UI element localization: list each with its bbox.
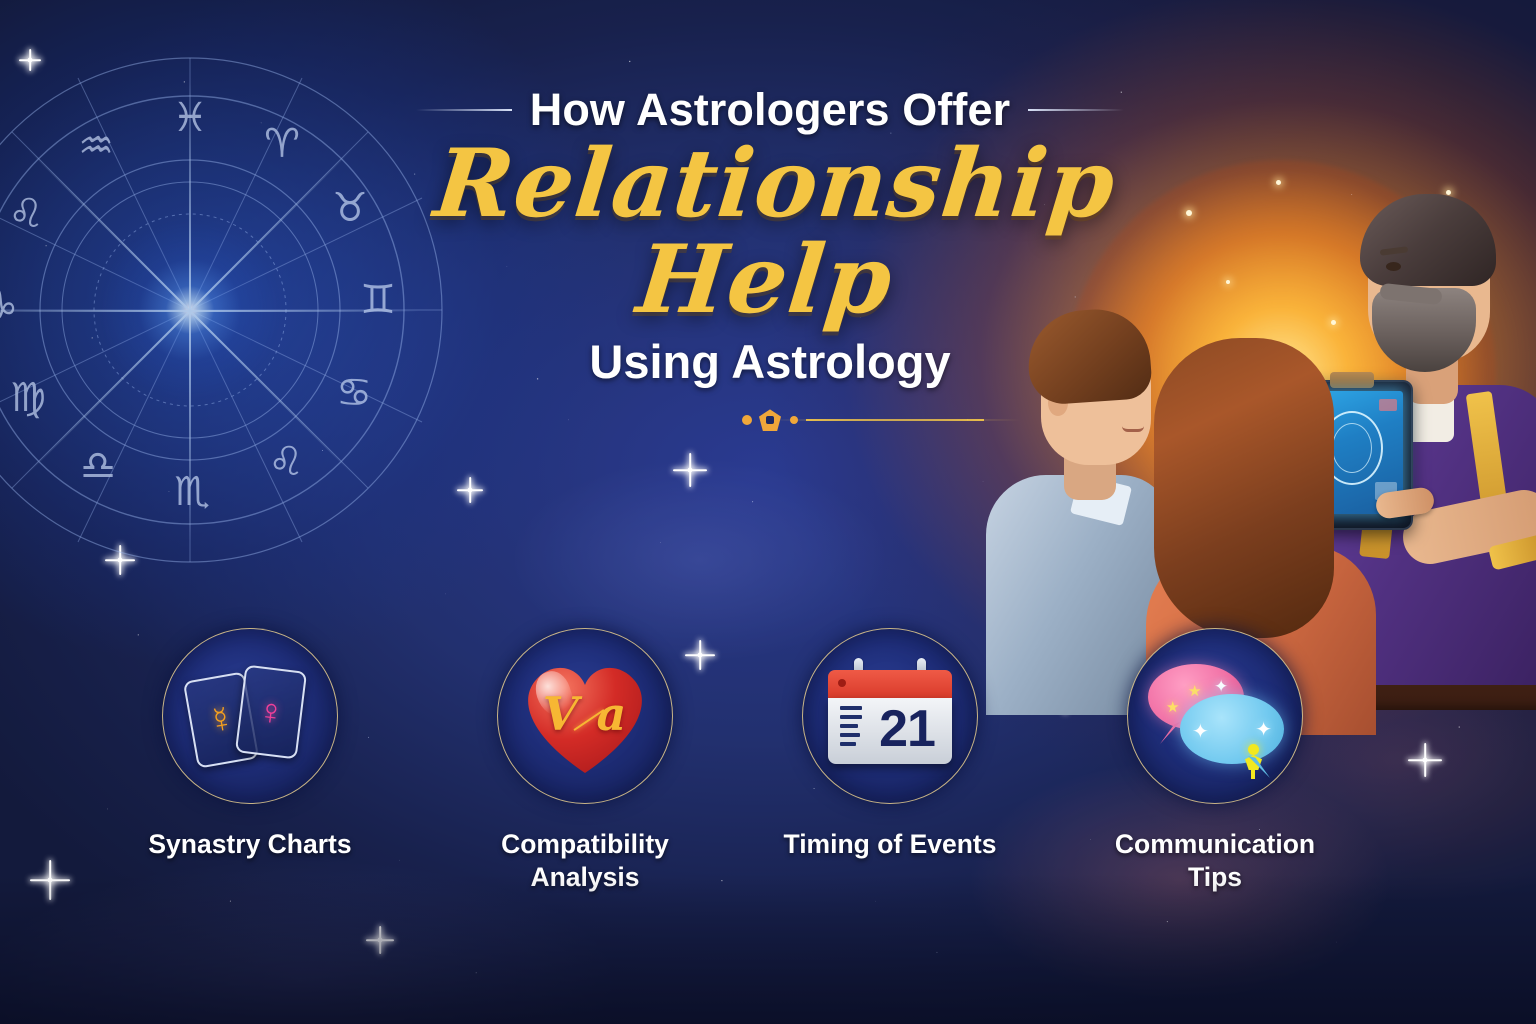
mercury-glyph-icon: ☿ [205, 700, 238, 740]
feature-label: Communication Tips [1105, 828, 1325, 894]
calendar-day-number: 21 [864, 696, 950, 762]
feature-icon-circle: 21 [802, 628, 978, 804]
feature-label: Compatibility Analysis [475, 828, 695, 894]
diamond-ornament-icon [759, 409, 781, 431]
headline-kicker: How Astrologers Offer [530, 86, 1011, 135]
svg-text:♌: ♌ [268, 439, 304, 485]
feature-label: Timing of Events [780, 828, 1000, 861]
speech-bubbles-icon: ★ ★ ✦ ✦ ✦ [1144, 660, 1286, 772]
feature-label-line1: Compatibility [501, 829, 669, 859]
feature-communication-tips[interactable]: ★ ★ ✦ ✦ ✦ Communication Tips [1105, 628, 1325, 894]
feature-label-line2: Analysis [530, 862, 639, 892]
horizontal-rule-icon [1028, 109, 1124, 111]
svg-text:♌: ♌ [8, 191, 44, 237]
headline-subline: Using Astrology [330, 334, 1210, 389]
kicker-row: How Astrologers Offer [330, 86, 1210, 135]
divider-ornament [520, 409, 1020, 431]
svg-text:♏: ♏ [174, 469, 210, 515]
calendar-icon: 21 [828, 660, 952, 772]
heart-with-initials-icon: V a [519, 657, 651, 775]
horizontal-rule-icon [416, 109, 512, 111]
svg-text:♎: ♎ [80, 443, 116, 489]
svg-text:♍: ♍ [10, 375, 46, 421]
headline-block: How Astrologers Offer Relationship Help … [330, 86, 1210, 431]
feature-icon-circle: V a [497, 628, 673, 804]
banner-canvas: ♓ ♈ ♉ ♊ ♋ ♌ ♏ ♎ ♍ ♑ ♌ ♒ [0, 0, 1536, 1024]
svg-text:♈: ♈ [264, 121, 300, 167]
feature-icon-circle: ★ ★ ✦ ✦ ✦ [1127, 628, 1303, 804]
feature-row: ☿ ♀ Synastry Charts V a Compatibility An… [0, 620, 1536, 920]
svg-text:♑: ♑ [0, 283, 18, 329]
feature-label: Synastry Charts [140, 828, 360, 861]
venus-glyph-icon: ♀ [255, 692, 286, 731]
svg-text:♒: ♒ [78, 123, 114, 169]
headline-script: Relationship Help [320, 137, 1220, 329]
heart-initials: V a [519, 687, 651, 741]
feature-timing-of-events[interactable]: 21 Timing of Events [780, 628, 1000, 861]
feature-compatibility-analysis[interactable]: V a Compatibility Analysis [475, 628, 695, 894]
blue-bubble: ✦ ✦ [1180, 694, 1284, 764]
star-figure-icon [1244, 744, 1262, 778]
feature-icon-circle: ☿ ♀ [162, 628, 338, 804]
feature-synastry-charts[interactable]: ☿ ♀ Synastry Charts [140, 628, 360, 861]
two-astrology-cards-icon: ☿ ♀ [188, 664, 312, 768]
